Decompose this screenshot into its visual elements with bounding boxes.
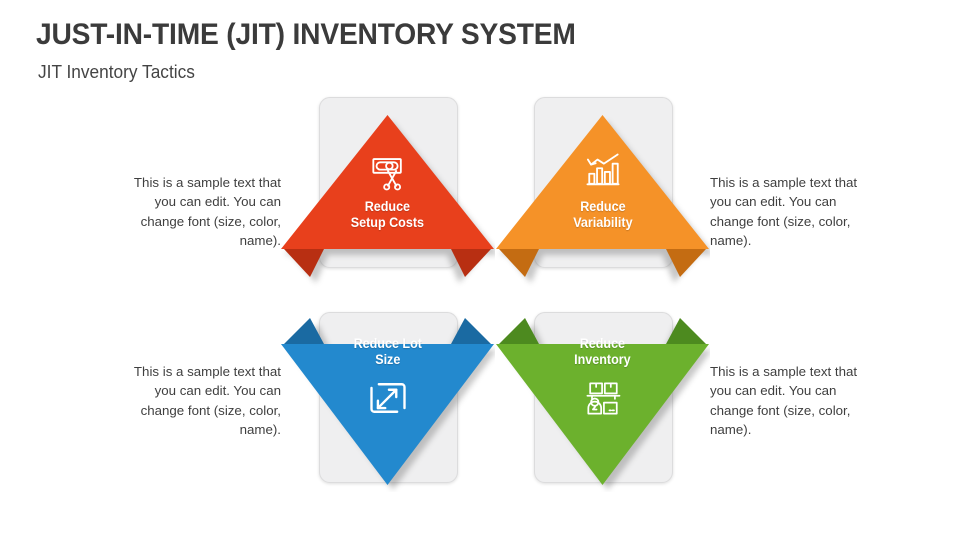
description-reduce-setup-costs: This is a sample text that you can edit.… bbox=[131, 173, 281, 251]
triangle-body bbox=[496, 115, 709, 249]
description-reduce-inventory: This is a sample text that you can edit.… bbox=[710, 362, 860, 440]
triangle-reduce-variability[interactable]: Reduce Variability bbox=[495, 113, 710, 273]
triangle-body bbox=[496, 344, 709, 485]
description-reduce-variability: This is a sample text that you can edit.… bbox=[710, 173, 860, 251]
triangle-body bbox=[281, 115, 494, 249]
triangle-body bbox=[281, 344, 494, 485]
triangle-reduce-inventory[interactable]: Reduce Inventory bbox=[495, 312, 710, 472]
page-subtitle: JIT Inventory Tactics bbox=[38, 62, 195, 83]
page-title: JUST-IN-TIME (JIT) INVENTORY SYSTEM bbox=[36, 18, 576, 52]
slide-canvas: JUST-IN-TIME (JIT) INVENTORY SYSTEM JIT … bbox=[0, 0, 960, 540]
description-reduce-lot-size: This is a sample text that you can edit.… bbox=[131, 362, 281, 440]
triangle-reduce-setup-costs[interactable]: Reduce Setup Costs bbox=[280, 113, 495, 273]
triangle-reduce-lot-size[interactable]: Reduce Lot Size bbox=[280, 312, 495, 472]
fold-right bbox=[451, 318, 491, 344]
fold-right bbox=[666, 318, 706, 344]
